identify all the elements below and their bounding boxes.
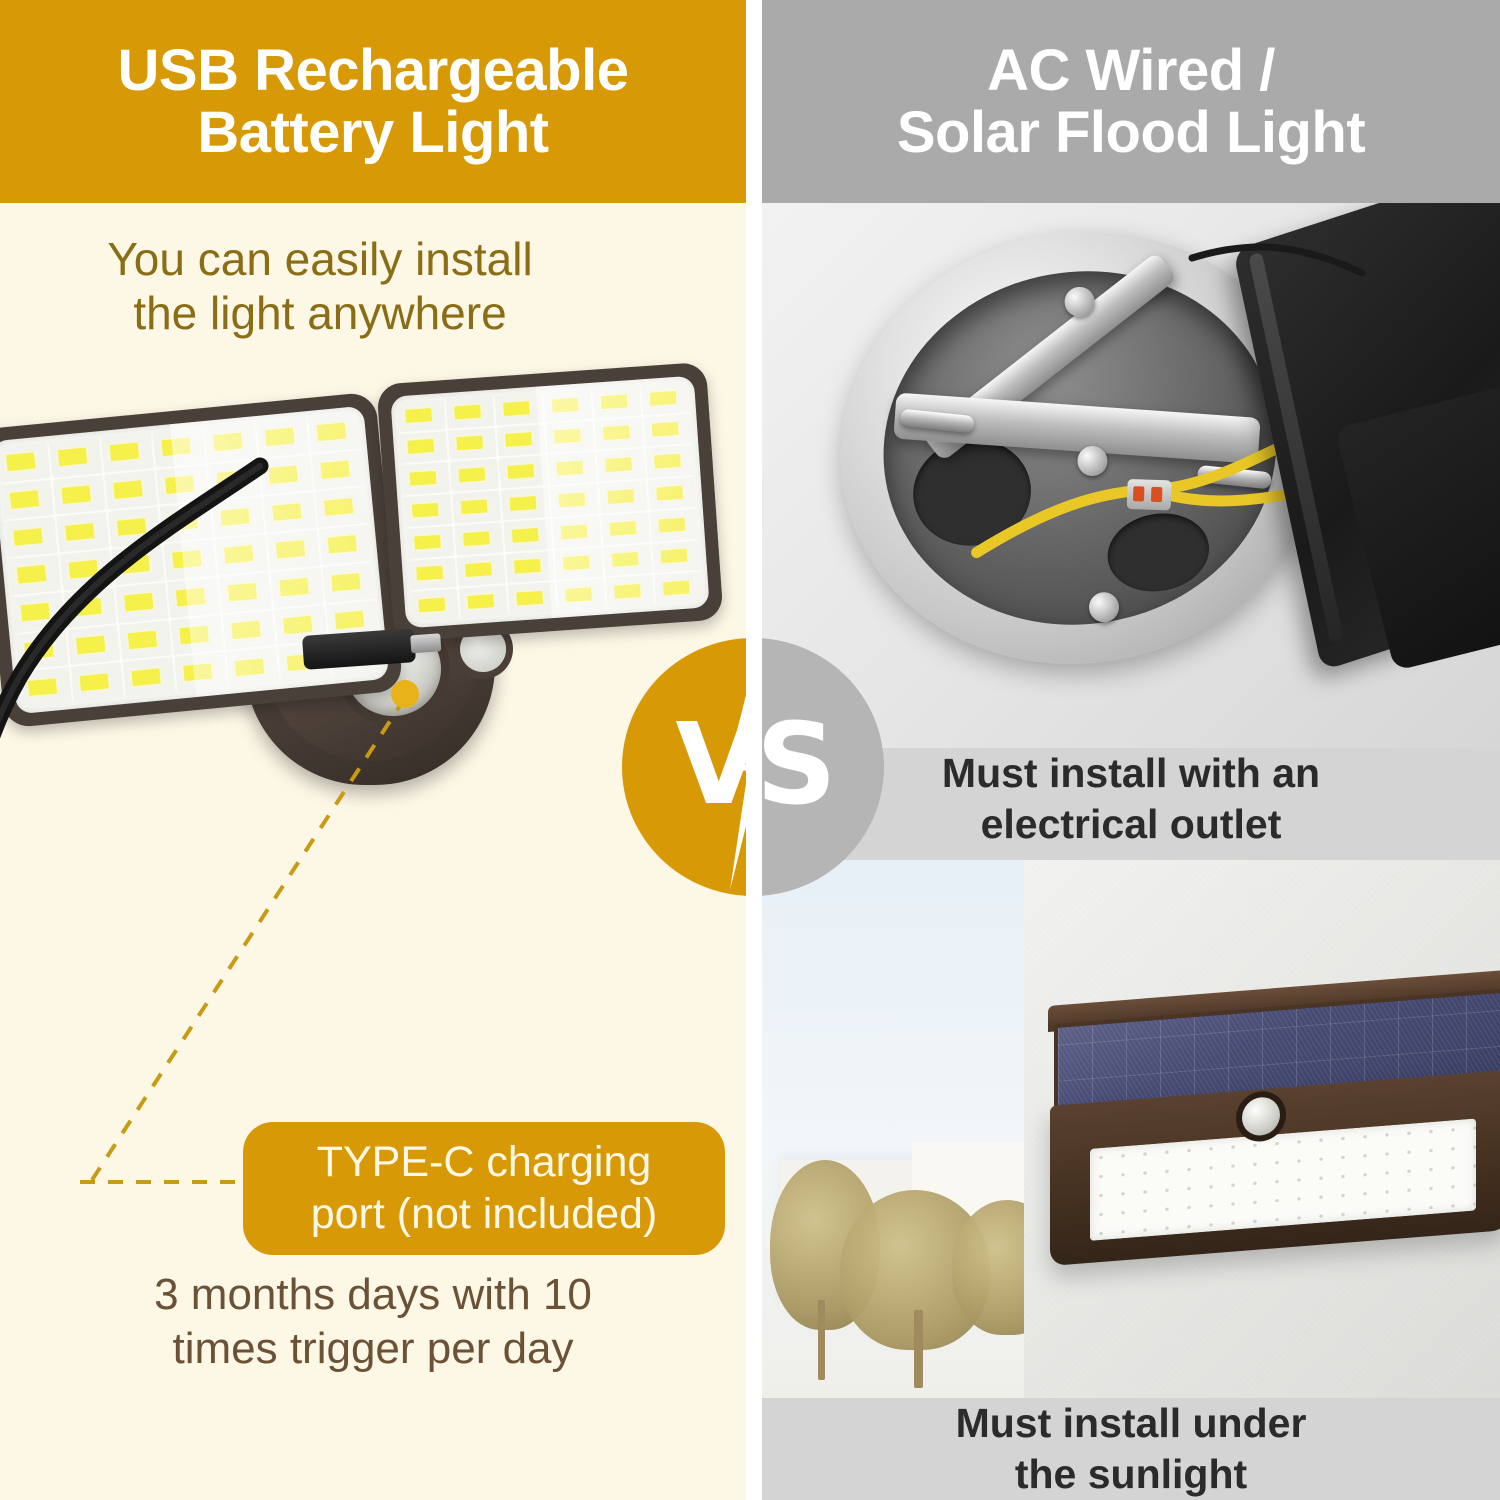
right-header-title: AC Wired / Solar Flood Light [897,40,1365,163]
led-chip [643,414,692,447]
led-chip [494,392,543,425]
led-chip [650,509,699,542]
tree-trunk-1 [818,1300,825,1380]
led-chip [597,449,646,482]
led-chip [397,399,446,432]
led-chip [410,589,459,622]
led-chip [648,477,697,510]
led-chip [508,582,557,615]
led-chip [401,462,450,495]
type-c-callout-badge: TYPE-C charging port (not included) [243,1122,725,1255]
comparison-infographic: USB Rechargeable Battery Light You can e… [0,0,1500,1500]
led-chip [406,526,455,559]
led-chip [601,512,650,545]
led-chip [641,382,690,415]
led-chip [550,484,599,517]
type-c-callout-text: TYPE-C charging port (not included) [311,1137,658,1240]
led-chip [499,456,548,489]
led-chip [552,515,601,548]
led-chip [506,551,555,584]
led-chip [603,544,652,577]
led-chip [557,579,606,612]
led-chip [448,427,497,460]
led-chip [454,522,503,555]
led-chip [654,572,703,605]
panel-divider [746,0,762,1500]
led-chip [501,487,550,520]
led-chip [605,575,654,608]
led-chip [497,424,546,457]
wire-connector [1127,479,1172,511]
led-chip [599,480,648,513]
led-chip [548,452,597,485]
led-chip [546,421,595,454]
right-panel-header: AC Wired / Solar Flood Light [762,0,1500,203]
led-chip [408,557,457,590]
solar-light-led-diffuser [1090,1118,1476,1240]
solar-light-pir-sensor-icon [1242,1096,1280,1137]
led-chip [399,431,448,464]
left-panel-header: USB Rechargeable Battery Light [0,0,746,203]
solar-light-scene [762,860,1500,1398]
led-chip [652,540,701,573]
led-chip [592,386,641,419]
led-chip-grid-right [397,382,704,622]
left-footer-note: 3 months days with 10 times trigger per … [8,1268,738,1375]
led-chip [452,491,501,524]
led-chip [503,519,552,552]
led-panel-right [376,362,723,642]
left-header-title: USB Rechargeable Battery Light [118,40,629,163]
tree-trunk-2 [914,1310,923,1388]
led-chip [457,554,506,587]
led-chip [446,396,495,429]
led-chip [543,389,592,422]
led-chip [459,586,508,619]
solar-wall-light [1040,988,1500,1256]
led-chip [403,494,452,527]
led-chip [594,417,643,450]
left-subtitle: You can easily install the light anywher… [0,232,640,341]
led-diffuser-right [390,376,709,629]
led-chip [554,547,603,580]
right-caption-sunlight: Must install under the sunlight [762,1398,1500,1500]
led-chip [450,459,499,492]
led-chip [646,445,695,478]
